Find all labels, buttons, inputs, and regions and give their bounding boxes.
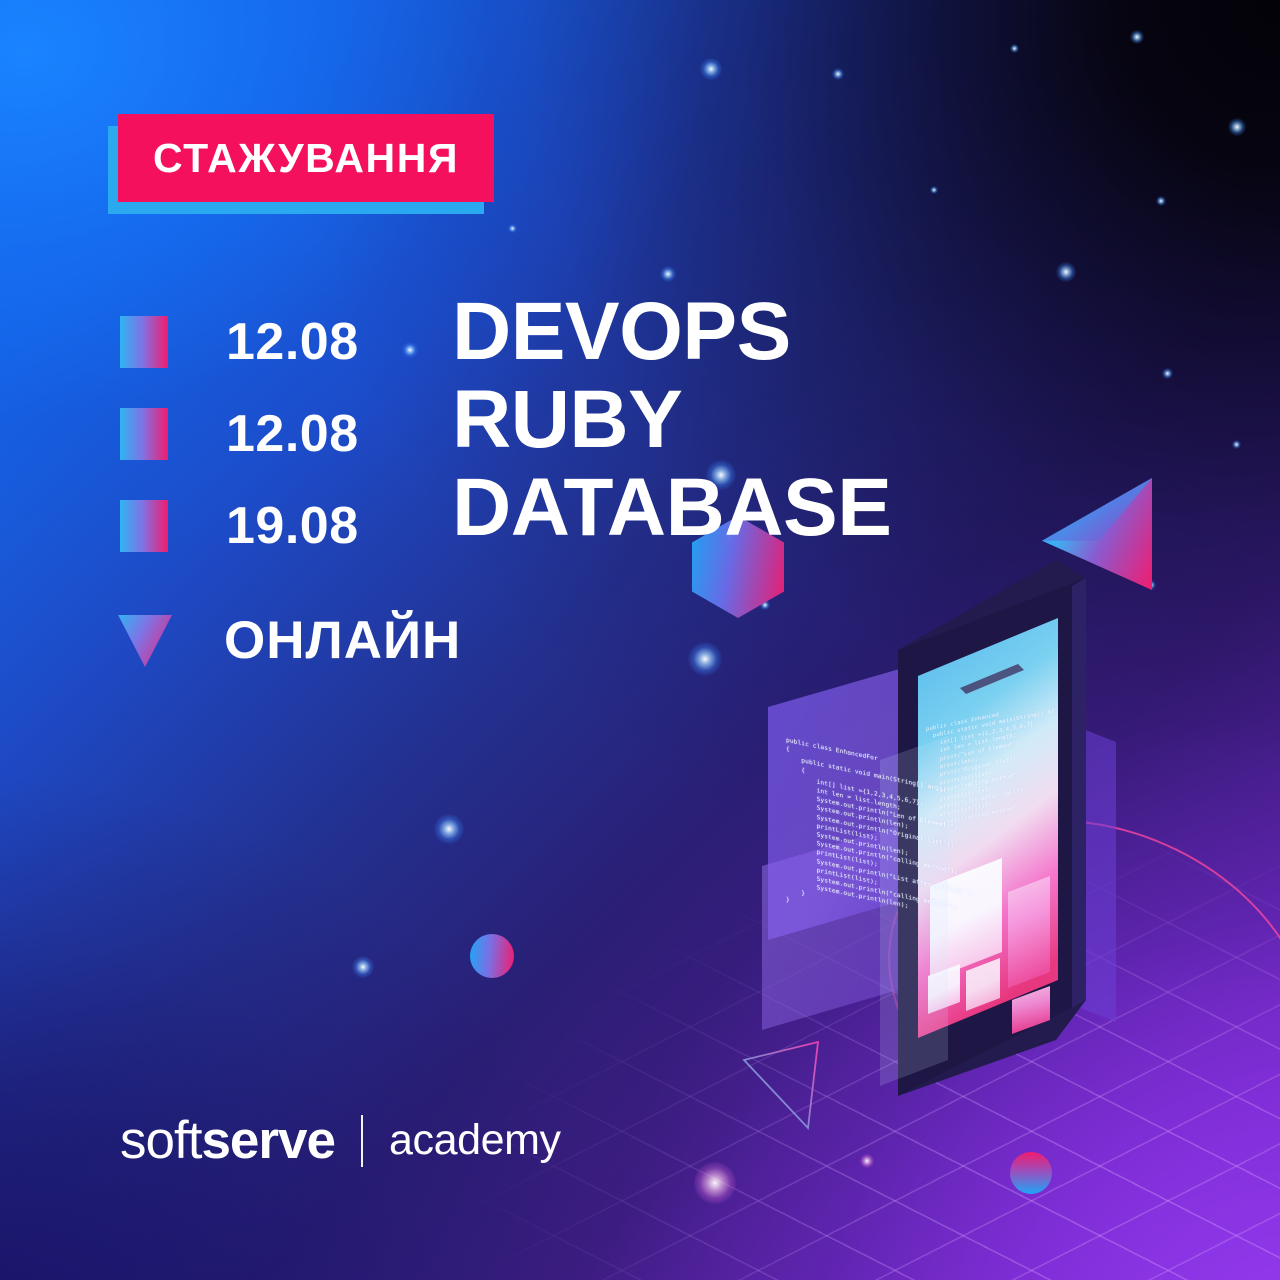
schedule-row: 19.08 [120, 484, 359, 568]
schedule-list: 12.08 12.08 19.08 [120, 300, 359, 568]
softserve-academy-logo: soft serve academy [120, 1110, 561, 1171]
course-title: DATABASE [452, 464, 891, 552]
schedule-row: 12.08 [120, 392, 359, 476]
gradient-square-marker-icon [120, 408, 168, 460]
schedule-date: 12.08 [226, 404, 359, 464]
course-title: RUBY [452, 376, 891, 464]
gradient-square-marker-icon [120, 500, 168, 552]
gradient-circle-left [470, 934, 514, 978]
format-row: ОНЛАЙН [118, 610, 461, 671]
schedule-row: 12.08 [120, 300, 359, 384]
logo-soft: soft [120, 1110, 201, 1171]
schedule-date: 12.08 [226, 312, 359, 372]
promo-poster: public class EnhancedFor { public static… [0, 0, 1280, 1280]
course-title: DEVOPS [452, 288, 891, 376]
course-list: DEVOPS RUBY DATABASE [452, 288, 891, 552]
badge-label: СТАЖУВАННЯ [153, 135, 459, 182]
format-label: ОНЛАЙН [224, 610, 461, 671]
schedule-date: 19.08 [226, 496, 359, 556]
logo-divider [361, 1115, 363, 1167]
logo-serve: serve [201, 1110, 335, 1171]
gradient-square-marker-icon [120, 316, 168, 368]
gradient-circle-bottom [1010, 1152, 1052, 1194]
badge-body: СТАЖУВАННЯ [118, 114, 494, 202]
logo-academy: academy [389, 1116, 561, 1165]
triangle-down-icon [118, 615, 172, 667]
internship-badge: СТАЖУВАННЯ [118, 114, 494, 202]
